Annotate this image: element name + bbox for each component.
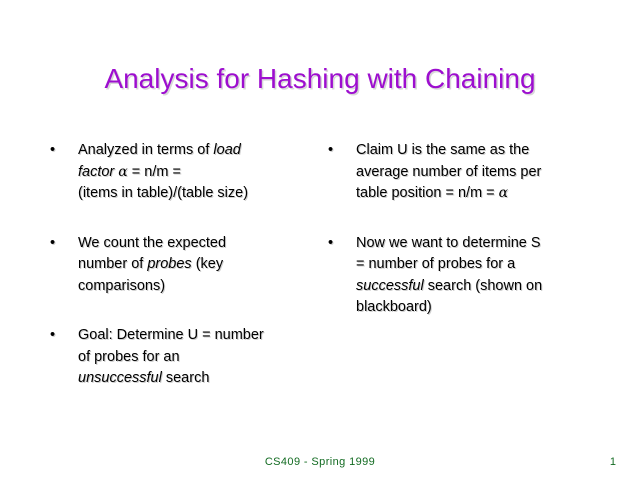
bullet-line: Analyzed in terms of load <box>78 140 328 162</box>
bullet-line: comparisons) <box>78 276 328 298</box>
bullet-marker-icon: • <box>50 140 64 162</box>
bullet-text-run: search (shown on <box>424 278 542 294</box>
bullet-marker-icon: • <box>328 140 342 162</box>
bullet-line: of probes for an <box>78 347 328 369</box>
bullet-line: (items in table)/(table size) <box>78 183 328 205</box>
bullet-item: •Analyzed in terms of loadfactor α = n/m… <box>42 140 328 205</box>
bullet-line: blackboard) <box>356 297 620 319</box>
bullet-item: •We count the expectednumber of probes (… <box>42 233 328 298</box>
bullet-line: table position = n/m = α <box>356 183 620 205</box>
right-bullet-column: •Claim U is the same as theaverage numbe… <box>320 140 620 319</box>
footer-page-number: 1 <box>610 456 616 468</box>
bullet-text-run: (items in table)/(table size) <box>78 185 248 201</box>
bullet-line: unsuccessful search <box>78 368 328 390</box>
bullet-text-run: of probes for an <box>78 349 180 365</box>
bullet-text-run: search <box>162 370 210 386</box>
bullet-line: = number of probes for a <box>356 254 620 276</box>
slide-canvas: Analysis for Hashing with Chaining •Anal… <box>0 0 640 480</box>
bullet-text-run: We count the expected <box>78 235 226 251</box>
bullet-text-run: = n/m = <box>128 164 181 180</box>
bullet-line: number of probes (key <box>78 254 328 276</box>
bullet-line: successful search (shown on <box>356 276 620 298</box>
alpha-symbol: α <box>499 185 508 201</box>
bullet-item: •Goal: Determine U = numberof probes for… <box>42 325 328 390</box>
bullet-text-run: successful <box>356 278 424 294</box>
bullet-text-run: probes <box>147 256 191 272</box>
bullet-text-run: unsuccessful <box>78 370 162 386</box>
bullet-text-run: Goal: Determine U = number <box>78 327 264 343</box>
bullet-text-run: Analyzed in terms of <box>78 142 213 158</box>
bullet-item: •Claim U is the same as theaverage numbe… <box>320 140 620 205</box>
bullet-text-run: average number of items per <box>356 164 541 180</box>
bullet-text-run: factor <box>78 164 114 180</box>
bullet-text-run: Claim U is the same as the <box>356 142 529 158</box>
bullet-text-run: comparisons) <box>78 278 165 294</box>
bullet-text-run: load <box>213 142 240 158</box>
bullet-line: factor α = n/m = <box>78 162 328 184</box>
bullet-item: •Now we want to determine S= number of p… <box>320 233 620 319</box>
bullet-text-run: Now we want to determine S <box>356 235 541 251</box>
bullet-text-run: table position = n/m = <box>356 185 499 201</box>
left-bullet-column: •Analyzed in terms of loadfactor α = n/m… <box>42 140 328 390</box>
bullet-marker-icon: • <box>328 233 342 255</box>
bullet-marker-icon: • <box>50 233 64 255</box>
bullet-line: Now we want to determine S <box>356 233 620 255</box>
bullet-text-run: blackboard) <box>356 299 432 315</box>
bullet-line: Goal: Determine U = number <box>78 325 328 347</box>
footer-course-label: CS409 - Spring 1999 <box>0 456 640 468</box>
bullet-text-run: = number of probes for a <box>356 256 515 272</box>
bullet-line: average number of items per <box>356 162 620 184</box>
bullet-text-run: (key <box>192 256 223 272</box>
page-title: Analysis for Hashing with Chaining <box>0 62 640 96</box>
bullet-text-run: number of <box>78 256 147 272</box>
bullet-line: We count the expected <box>78 233 328 255</box>
alpha-symbol: α <box>118 164 127 180</box>
bullet-marker-icon: • <box>50 325 64 347</box>
bullet-line: Claim U is the same as the <box>356 140 620 162</box>
